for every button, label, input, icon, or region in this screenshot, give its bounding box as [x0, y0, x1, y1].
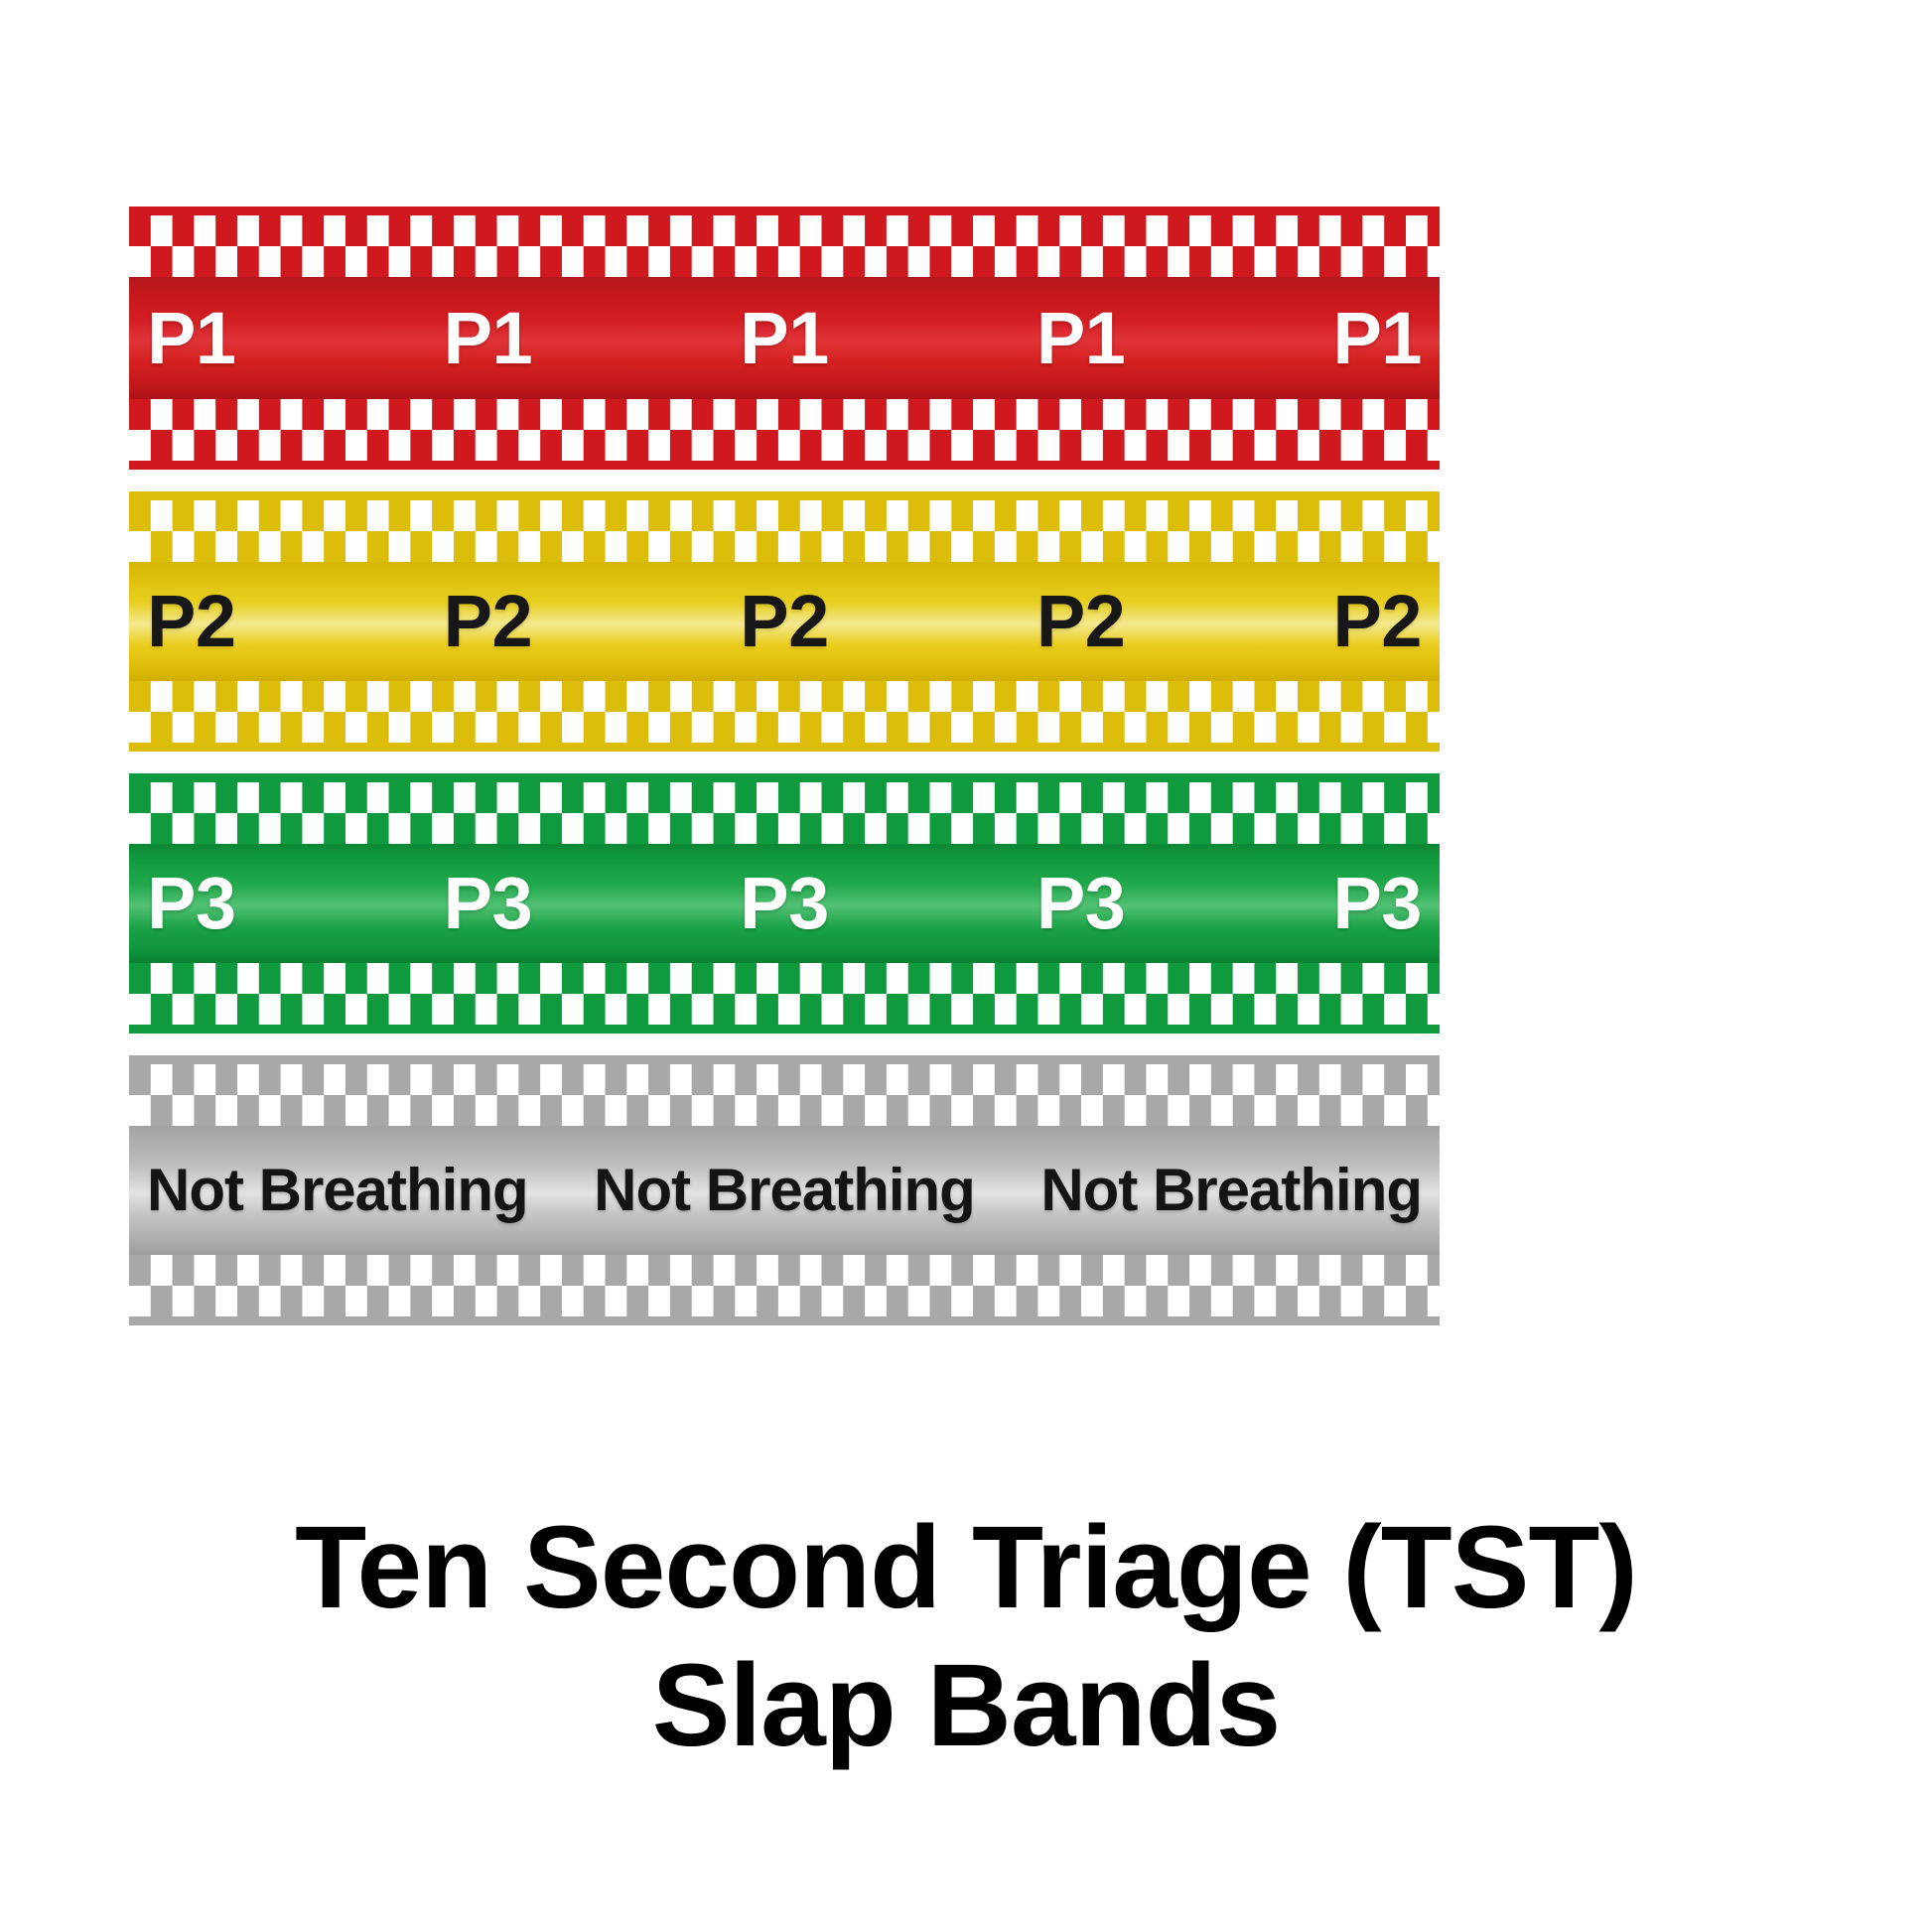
figure-canvas: P1 P1 P1 P1 P1 P2 P2 P2 P2 P2 [0, 0, 1932, 1932]
checker-strip-top-p1 [129, 215, 1440, 277]
band-label: P2 [1036, 585, 1126, 658]
band-core-p1: P1 P1 P1 P1 P1 [129, 277, 1440, 399]
band-label: P3 [444, 867, 533, 940]
band-label: P1 [740, 302, 829, 375]
band-label: Not Breathing [147, 1161, 528, 1220]
band-core-not-breathing: Not Breathing Not Breathing Not Breathin… [129, 1126, 1440, 1255]
band-label: Not Breathing [1040, 1161, 1422, 1220]
checker-strip-bottom-not-breathing [129, 1255, 1440, 1316]
caption-line-1: Ten Second Triage (TST) [0, 1499, 1932, 1637]
band-label: P2 [1332, 585, 1422, 658]
band-top-rail-not-breathing [129, 1055, 1440, 1064]
checker-strip-top-p3 [129, 782, 1440, 844]
slap-band-stack: P1 P1 P1 P1 P1 P2 P2 P2 P2 P2 [129, 207, 1440, 1325]
band-label: P3 [1332, 867, 1422, 940]
slap-band-p3: P3 P3 P3 P3 P3 [129, 773, 1440, 1034]
band-label: P3 [147, 867, 236, 940]
caption-line-2: Slap Bands [0, 1637, 1932, 1775]
band-gap [129, 1034, 1440, 1055]
band-label: P3 [740, 867, 829, 940]
band-label: P2 [444, 585, 533, 658]
band-label: P1 [1036, 302, 1126, 375]
band-label: P1 [444, 302, 533, 375]
band-label: P3 [1036, 867, 1126, 940]
checker-strip-bottom-p2 [129, 681, 1440, 743]
band-core-p3: P3 P3 P3 P3 P3 [129, 844, 1440, 963]
band-label: P2 [147, 585, 236, 658]
band-gap [129, 470, 1440, 491]
band-top-rail-p3 [129, 773, 1440, 782]
band-bottom-rail-p3 [129, 1025, 1440, 1034]
band-gap [129, 752, 1440, 773]
band-top-rail-p2 [129, 491, 1440, 500]
band-bottom-rail-p2 [129, 743, 1440, 752]
band-label: Not Breathing [594, 1161, 975, 1220]
checker-strip-top-not-breathing [129, 1064, 1440, 1126]
slap-band-p1: P1 P1 P1 P1 P1 [129, 207, 1440, 470]
checker-strip-top-p2 [129, 500, 1440, 562]
figure-caption: Ten Second Triage (TST) Slap Bands [0, 1499, 1932, 1775]
band-core-p2: P2 P2 P2 P2 P2 [129, 562, 1440, 681]
band-label: P2 [740, 585, 829, 658]
checker-strip-bottom-p1 [129, 399, 1440, 461]
checker-strip-bottom-p3 [129, 963, 1440, 1025]
slap-band-not-breathing: Not Breathing Not Breathing Not Breathin… [129, 1055, 1440, 1325]
band-bottom-rail-p1 [129, 461, 1440, 470]
band-label: P1 [147, 302, 236, 375]
band-label: P1 [1332, 302, 1422, 375]
slap-band-p2: P2 P2 P2 P2 P2 [129, 491, 1440, 752]
band-bottom-rail-not-breathing [129, 1316, 1440, 1325]
band-top-rail-p1 [129, 207, 1440, 215]
